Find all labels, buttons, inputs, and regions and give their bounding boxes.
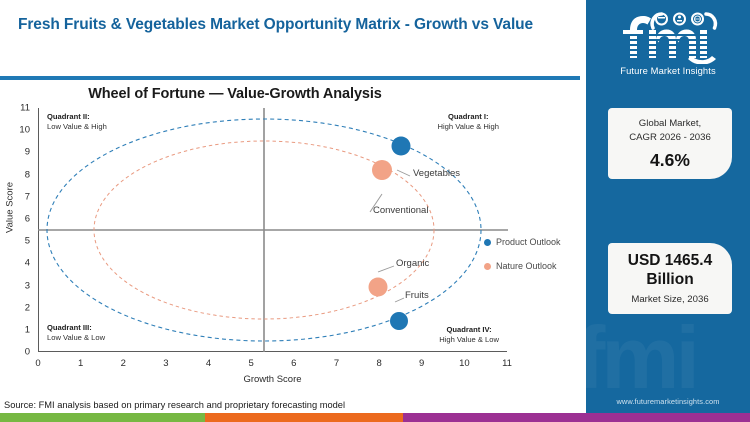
stat-card-market-size-value-line1: USD 1465.4 xyxy=(614,252,726,271)
bottom-bar-segment-orange xyxy=(205,413,403,422)
plot-area: Quadrant II: Low Value & High Quadrant I… xyxy=(38,108,507,352)
fmi-logo-icon xyxy=(616,8,720,64)
legend-item-product-outlook[interactable]: Product Outlook xyxy=(484,237,561,247)
chart-area: Wheel of Fortune — Value-Growth Analysis… xyxy=(0,82,580,397)
chart-legend: Product Outlook Nature Outlook xyxy=(484,237,561,285)
x-tick-8: 8 xyxy=(376,358,381,369)
stat-card-market-size-value-line2: Billion xyxy=(614,271,726,290)
bottom-bar-segment-purple xyxy=(403,413,750,422)
stat-card-cagr: Global Market, CAGR 2026 - 2036 4.6% xyxy=(608,108,732,179)
y-tick-0: 0 xyxy=(8,347,30,358)
quadrant-label-i: Quadrant I: High Value & High xyxy=(438,112,500,133)
bubble-organic[interactable] xyxy=(369,278,388,297)
legend-label-product-outlook: Product Outlook xyxy=(496,237,561,247)
quadrant-iv-title: Quadrant IV: xyxy=(439,325,499,335)
y-tick-9: 9 xyxy=(8,147,30,158)
point-label-organic: Organic xyxy=(396,258,429,269)
x-tick-11: 11 xyxy=(502,358,512,369)
quadrant-ii-subtitle: Low Value & High xyxy=(47,122,107,132)
point-label-fruits: Fruits xyxy=(405,290,429,301)
quadrant-label-iv: Quadrant IV: High Value & Low xyxy=(439,325,499,346)
leader-line-fruits xyxy=(395,298,404,302)
legend-item-nature-outlook[interactable]: Nature Outlook xyxy=(484,261,561,271)
screenshot-root: Fresh Fruits & Vegetables Market Opportu… xyxy=(0,0,750,422)
x-tick-4: 4 xyxy=(206,358,211,369)
sidebar-watermark: fmi xyxy=(586,314,696,402)
y-tick-4: 4 xyxy=(8,258,30,269)
bottom-color-bar xyxy=(0,413,750,422)
website-url[interactable]: www.futuremarketinsights.com xyxy=(586,397,750,406)
y-tick-2: 2 xyxy=(8,302,30,313)
point-label-conventional: Conventional xyxy=(373,205,428,216)
x-tick-0: 0 xyxy=(35,358,40,369)
page-title: Fresh Fruits & Vegetables Market Opportu… xyxy=(18,14,558,35)
left-pane: Fresh Fruits & Vegetables Market Opportu… xyxy=(0,0,580,422)
header-divider xyxy=(0,76,580,80)
stat-card-cagr-caption-line2: CAGR 2026 - 2036 xyxy=(614,131,726,145)
leader-line-organic xyxy=(378,266,394,272)
bubble-vegetables[interactable] xyxy=(392,137,411,156)
quadrant-iii-title: Quadrant III: xyxy=(47,323,105,333)
x-tick-10: 10 xyxy=(459,358,470,369)
quadrant-i-title: Quadrant I: xyxy=(438,112,500,122)
x-tick-9: 9 xyxy=(419,358,424,369)
y-tick-1: 1 xyxy=(8,324,30,335)
stat-card-cagr-value: 4.6% xyxy=(614,150,726,170)
y-axis-label: Value Score xyxy=(5,168,16,248)
bubble-conventional[interactable] xyxy=(372,160,392,180)
y-tick-10: 10 xyxy=(8,125,30,136)
legend-dot-product-outlook xyxy=(484,239,491,246)
logo-tagline: Future Market Insights xyxy=(586,65,750,76)
legend-dot-nature-outlook xyxy=(484,263,491,270)
plot-graphics xyxy=(38,108,508,352)
bottom-bar-segment-green xyxy=(0,413,205,422)
header: Fresh Fruits & Vegetables Market Opportu… xyxy=(0,0,580,78)
quadrant-label-iii: Quadrant III: Low Value & Low xyxy=(47,323,105,344)
quadrant-ii-title: Quadrant II: xyxy=(47,112,107,122)
quadrant-iii-subtitle: Low Value & Low xyxy=(47,333,105,343)
x-axis-label: Growth Score xyxy=(38,374,507,385)
x-tick-2: 2 xyxy=(121,358,126,369)
y-tick-11: 11 xyxy=(8,103,30,114)
x-tick-6: 6 xyxy=(291,358,296,369)
legend-label-nature-outlook: Nature Outlook xyxy=(496,261,557,271)
x-tick-5: 5 xyxy=(249,358,254,369)
stat-card-cagr-caption-line1: Global Market, xyxy=(614,117,726,131)
source-note: Source: FMI analysis based on primary re… xyxy=(4,400,345,410)
sidebar: fmi xyxy=(586,0,750,422)
leader-line-vegetables xyxy=(397,170,410,176)
x-tick-3: 3 xyxy=(163,358,168,369)
point-label-vegetables: Vegetables xyxy=(413,168,460,179)
quadrant-i-subtitle: High Value & High xyxy=(438,122,500,132)
y-tick-3: 3 xyxy=(8,280,30,291)
bubble-fruits[interactable] xyxy=(390,312,408,330)
stat-card-market-size-sub: Market Size, 2036 xyxy=(614,294,726,305)
stat-card-market-size: USD 1465.4 Billion Market Size, 2036 xyxy=(608,243,732,314)
brand-logo: Future Market Insights xyxy=(586,8,750,76)
quadrant-label-ii: Quadrant II: Low Value & High xyxy=(47,112,107,133)
x-tick-7: 7 xyxy=(334,358,339,369)
x-tick-1: 1 xyxy=(78,358,83,369)
quadrant-iv-subtitle: High Value & Low xyxy=(439,335,499,345)
chart-title: Wheel of Fortune — Value-Growth Analysis xyxy=(0,86,470,102)
